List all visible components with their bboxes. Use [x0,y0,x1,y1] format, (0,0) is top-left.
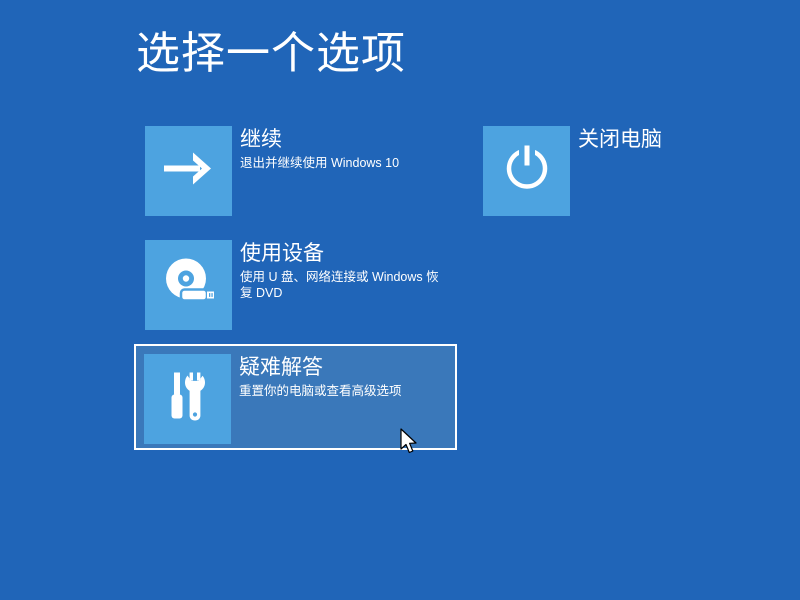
option-continue[interactable]: 继续 退出并继续使用 Windows 10 [145,126,399,216]
arrow-right-icon [164,151,214,192]
page-title: 选择一个选项 [136,28,406,80]
option-troubleshoot-text: 疑难解答 重置你的电脑或查看高级选项 [239,354,402,399]
option-continue-subtitle: 退出并继续使用 Windows 10 [240,155,399,171]
recovery-options-screen: 选择一个选项 继续 退出并继续使用 Windows 10 [0,0,800,600]
option-use-device-title: 使用设备 [240,241,447,267]
screwdriver-wrench-icon [165,371,211,428]
option-use-device-tile [145,240,232,330]
option-use-device-text: 使用设备 使用 U 盘、网络连接或 Windows 恢复 DVD [240,240,447,301]
option-turn-off-pc-title: 关闭电脑 [578,127,662,153]
option-troubleshoot[interactable]: 疑难解答 重置你的电脑或查看高级选项 [134,344,457,450]
option-troubleshoot-title: 疑难解答 [239,355,402,381]
power-icon [502,144,552,199]
option-turn-off-pc-text: 关闭电脑 [578,126,662,153]
option-use-device[interactable]: 使用设备 使用 U 盘、网络连接或 Windows 恢复 DVD [145,240,447,330]
option-continue-tile [145,126,232,216]
option-troubleshoot-subtitle: 重置你的电脑或查看高级选项 [239,383,402,399]
option-troubleshoot-tile [144,354,231,444]
option-continue-text: 继续 退出并继续使用 Windows 10 [240,126,399,171]
option-turn-off-pc-tile [483,126,570,216]
option-turn-off-pc[interactable]: 关闭电脑 [483,126,662,216]
option-use-device-subtitle: 使用 U 盘、网络连接或 Windows 恢复 DVD [240,269,447,301]
disc-usb-icon [161,257,217,314]
option-continue-title: 继续 [240,127,399,153]
